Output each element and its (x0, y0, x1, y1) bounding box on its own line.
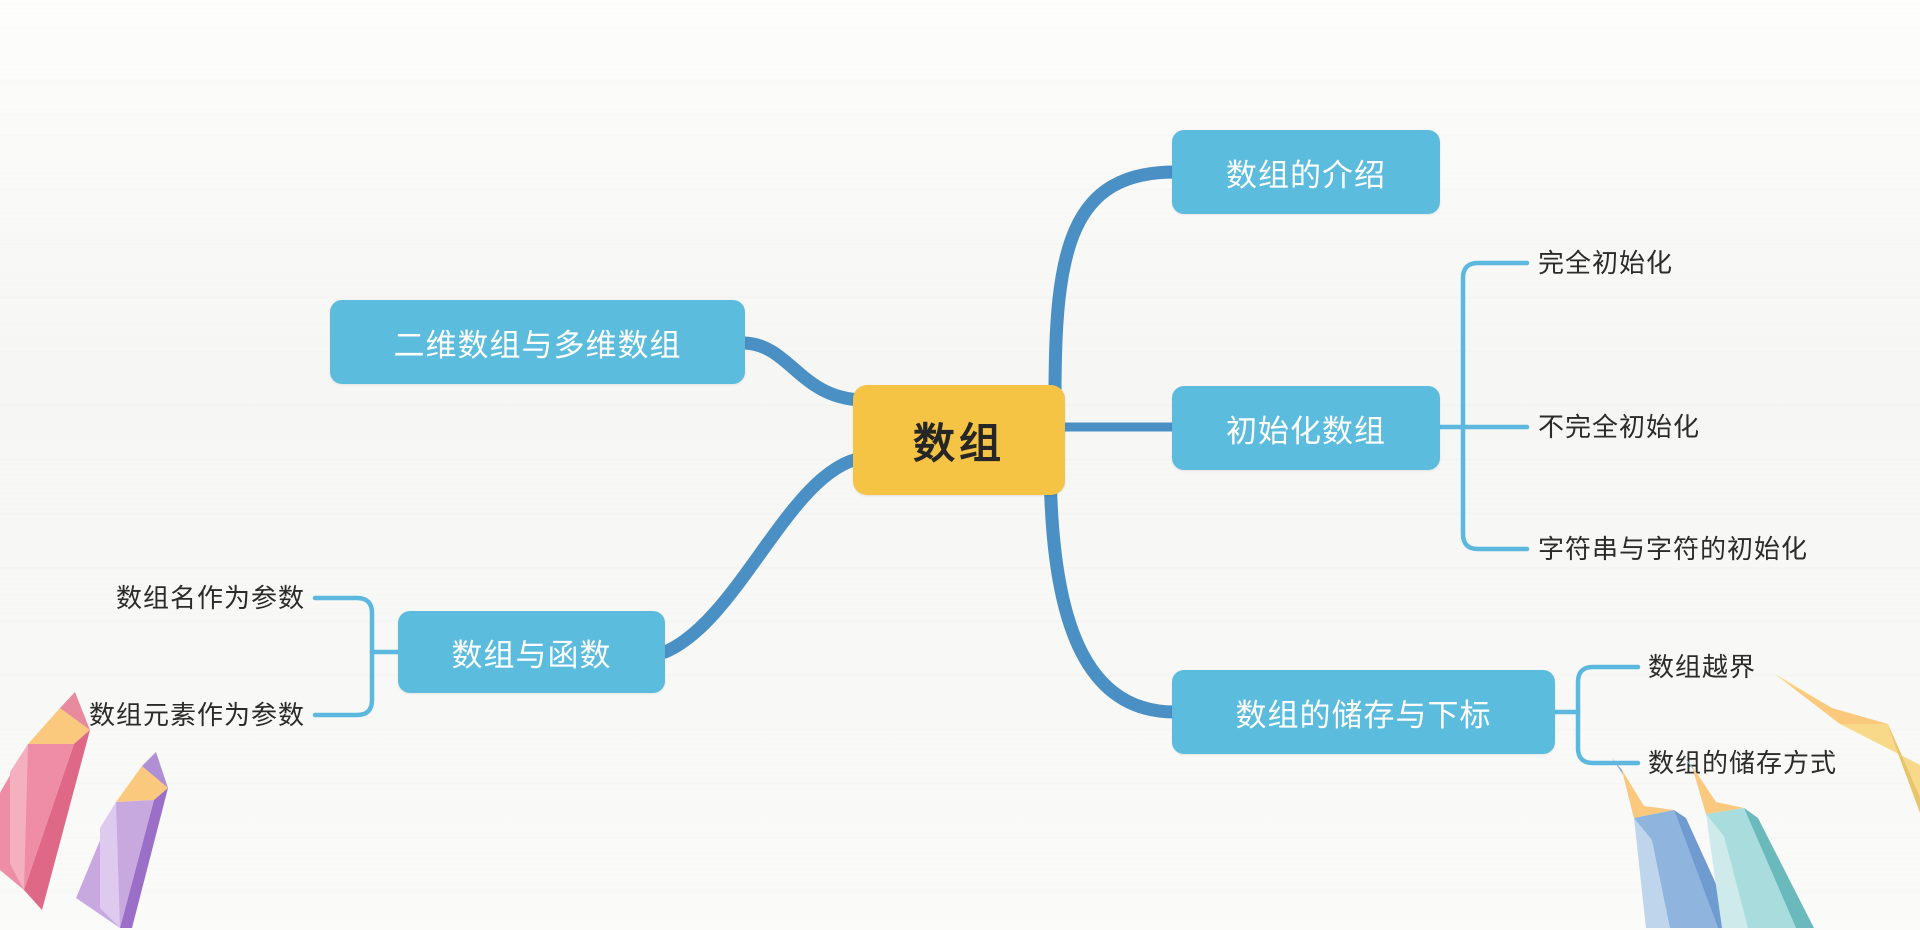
leaf-storage-outofbounds[interactable]: 数组越界 (1648, 654, 1756, 680)
connector-root-to-function (665, 458, 862, 652)
branch-node-storage[interactable]: 数组的储存与下标 (1172, 670, 1555, 754)
mindmap-canvas: 数组 数组的介绍 初始化数组 数组的储存与下标 二维数组与多维数组 数组与函数 … (0, 0, 1920, 920)
branch-node-function-label: 数组与函数 (452, 630, 612, 675)
connector-root-to-multidim (745, 343, 862, 400)
leaf-init-incomplete[interactable]: 不完全初始化 (1538, 414, 1700, 440)
leaf-init-string-char-label: 字符串与字符的初始化 (1538, 534, 1808, 564)
leaf-function-element-label: 数组元素作为参数 (89, 700, 305, 730)
connector-root-to-intro (1055, 172, 1175, 395)
leaf-function-arrayname-label: 数组名作为参数 (116, 583, 305, 613)
leaf-function-arrayname[interactable]: 数组名作为参数 (70, 585, 305, 611)
leafline-function-2 (315, 652, 372, 715)
pencil-blue-icon (1612, 758, 1736, 928)
branch-node-multidim[interactable]: 二维数组与多维数组 (330, 300, 745, 384)
pencils-bottom-right-decoration (1600, 640, 1920, 930)
leaf-storage-outofbounds-label: 数组越界 (1648, 652, 1756, 682)
leaf-storage-method[interactable]: 数组的储存方式 (1648, 750, 1837, 776)
leaf-storage-method-label: 数组的储存方式 (1648, 748, 1837, 778)
leafline-storage-2 (1578, 712, 1638, 763)
leaf-function-element[interactable]: 数组元素作为参数 (44, 702, 305, 728)
leaf-init-complete[interactable]: 完全初始化 (1538, 250, 1673, 276)
root-node[interactable]: 数组 (853, 385, 1065, 495)
leafline-function-1 (315, 598, 372, 652)
root-node-label: 数组 (913, 410, 1005, 471)
branch-node-intro[interactable]: 数组的介绍 (1172, 130, 1440, 214)
connector-root-to-storage (1050, 455, 1175, 712)
branch-node-intro-label: 数组的介绍 (1226, 150, 1386, 195)
leafline-init-3 (1463, 427, 1527, 549)
leafline-init-1 (1463, 263, 1527, 427)
branch-node-function[interactable]: 数组与函数 (398, 611, 665, 693)
branch-node-init[interactable]: 初始化数组 (1172, 386, 1440, 470)
leaf-init-complete-label: 完全初始化 (1538, 248, 1673, 278)
pencil-purple-icon (76, 752, 168, 928)
pencil-teal-icon (1682, 754, 1814, 928)
leaf-init-incomplete-label: 不完全初始化 (1538, 412, 1700, 442)
branch-node-init-label: 初始化数组 (1226, 406, 1386, 451)
branch-node-multidim-label: 二维数组与多维数组 (394, 320, 682, 365)
branch-node-storage-label: 数组的储存与下标 (1236, 690, 1492, 735)
leaf-init-string-char[interactable]: 字符串与字符的初始化 (1538, 536, 1808, 562)
leafline-storage-1 (1578, 667, 1638, 712)
